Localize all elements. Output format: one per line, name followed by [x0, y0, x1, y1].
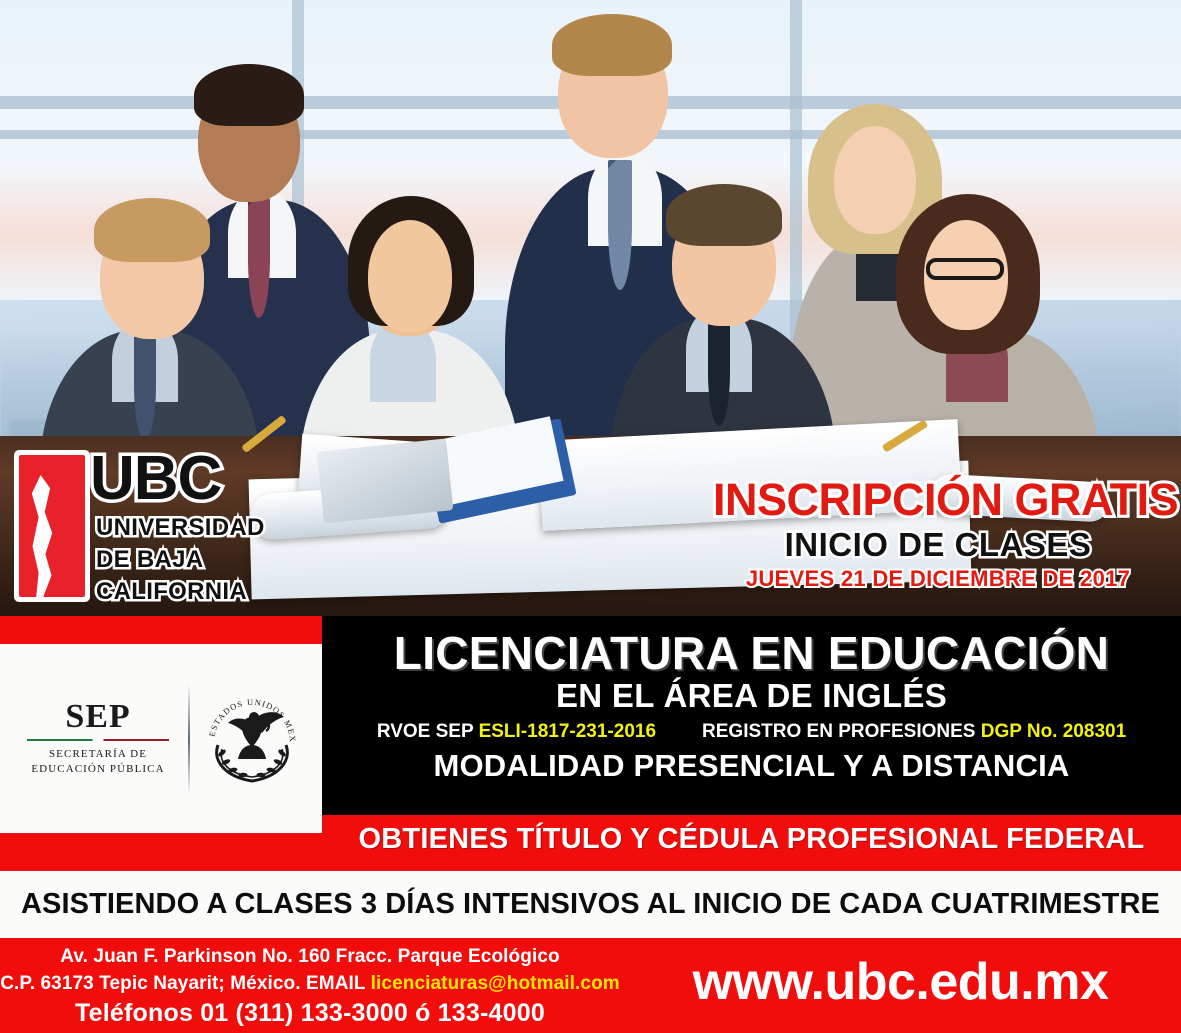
sep-name-line2: EDUCACIÓN PÚBLICA	[18, 762, 178, 777]
ubc-acronym: UBC	[90, 448, 221, 510]
promo-subheadline: INICIO DE CLASES	[713, 526, 1163, 563]
ubc-logo: UBC UNIVERSIDAD DE BAJA CALIFORNIA	[14, 448, 262, 610]
footer-contact-bar: Av. Juan F. Parkinson No. 160 Fracc. Par…	[0, 938, 1181, 1033]
sep-acronym: SEP	[18, 700, 178, 734]
ubc-name-line3: CALIFORNIA	[96, 578, 247, 606]
eyeglasses-icon	[926, 258, 1004, 280]
registro-value: DGP No. 208301	[981, 721, 1126, 742]
footer-address: Av. Juan F. Parkinson No. 160 Fracc. Par…	[0, 944, 620, 970]
contact-info-block: Av. Juan F. Parkinson No. 160 Fracc. Par…	[0, 944, 620, 1029]
rvoe-group: RVOE SEP ESLI-1817-231-2016	[377, 721, 656, 743]
ubc-name-line2: DE BAJA	[96, 546, 203, 574]
sep-panel-top-accent	[0, 616, 322, 644]
rvoe-value: ESLI-1817-231-2016	[479, 721, 656, 742]
program-title: LICENCIATURA EN EDUCACIÓN	[322, 628, 1181, 678]
promo-headline: INSCRIPCIÓN GRATIS	[713, 476, 1163, 524]
sep-tricolor-rule	[27, 739, 169, 741]
sep-panel-bottom-fill	[0, 815, 322, 833]
footer-city-email-line: C.P. 63173 Tepic Nayarit; México. EMAIL …	[0, 970, 620, 997]
advertisement-poster: UBC UNIVERSIDAD DE BAJA CALIFORNIA INSCR…	[0, 0, 1181, 1033]
asistiendo-banner: ASISTIENDO A CLASES 3 DÍAS INTENSIVOS AL…	[0, 871, 1181, 938]
program-subtitle: EN EL ÁREA DE INGLÉS	[322, 678, 1181, 714]
rvoe-label: RVOE SEP	[377, 721, 473, 742]
footer-website-url[interactable]: www.ubc.edu.mx	[620, 952, 1181, 1012]
asistiendo-text: ASISTIENDO A CLASES 3 DÍAS INTENSIVOS AL…	[21, 888, 1160, 921]
ubc-name-line1: UNIVERSIDAD	[96, 514, 265, 542]
footer-phones: Teléfonos 01 (311) 133-3000 ó 133-4000	[0, 997, 620, 1029]
obtienes-text: OBTIENES TÍTULO Y CÉDULA PROFESIONAL FED…	[322, 823, 1181, 856]
mexican-coat-of-arms-seal: ESTADOS UNIDOS MEXICANOS	[200, 687, 304, 791]
tablet-device	[317, 438, 454, 523]
sep-name-line1: SECRETARÍA DE	[18, 747, 178, 762]
sep-divider	[188, 684, 190, 794]
promo-block: INSCRIPCIÓN GRATIS INICIO DE CLASES JUEV…	[713, 476, 1163, 592]
baja-california-map-icon	[14, 450, 90, 602]
promo-start-date: JUEVES 21 DE DICIEMBRE DE 2017	[713, 566, 1163, 592]
registro-label: REGISTRO EN PROFESIONES	[702, 721, 975, 742]
sep-logo-panel: SEP SECRETARÍA DE EDUCACIÓN PÚBLICA ESTA…	[0, 644, 322, 833]
registro-group: REGISTRO EN PROFESIONES DGP No. 208301	[702, 721, 1126, 743]
footer-email[interactable]: licenciaturas@hotmail.com	[371, 973, 620, 994]
footer-cp-city: C.P. 63173 Tepic Nayarit; México. EMAIL	[0, 973, 365, 994]
program-modality: MODALIDAD PRESENCIAL Y A DISTANCIA	[322, 749, 1181, 783]
accreditation-row: RVOE SEP ESLI-1817-231-2016 REGISTRO EN …	[322, 721, 1181, 743]
program-banner: LICENCIATURA EN EDUCACIÓN EN EL ÁREA DE …	[322, 616, 1181, 815]
